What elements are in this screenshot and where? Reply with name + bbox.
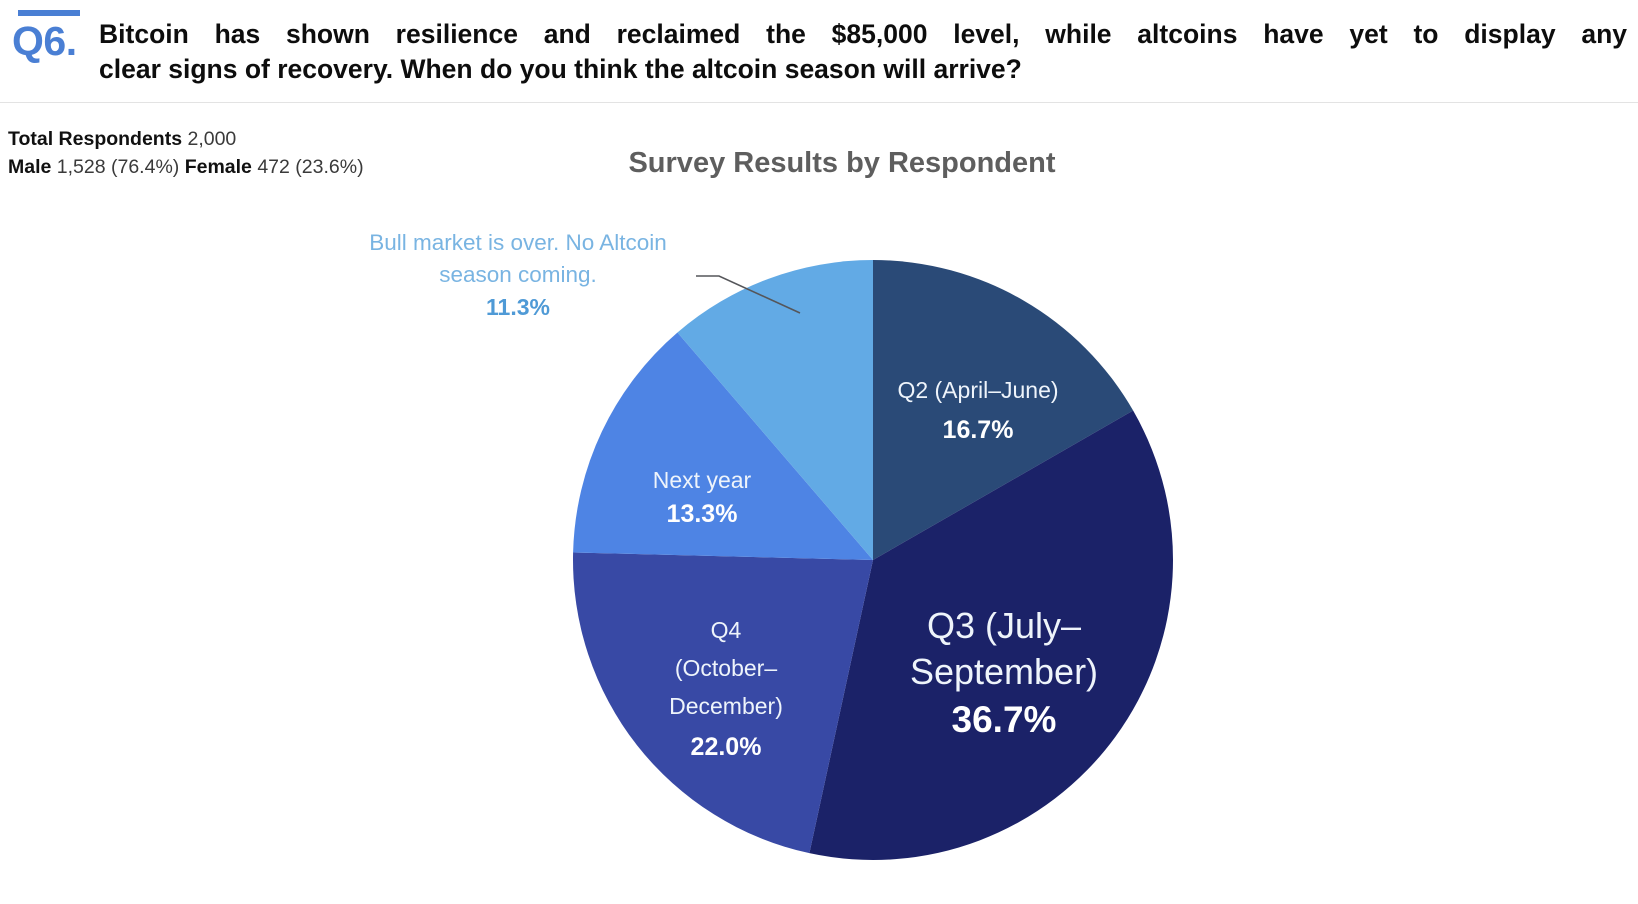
- slice-label-q4-line2: (October–: [675, 655, 777, 681]
- slice-label-q3-line2: September): [910, 651, 1098, 692]
- pie-chart-container: Survey Results by Respondent Q2 (April–J…: [0, 0, 1638, 904]
- slice-pct-q4: 22.0%: [691, 733, 762, 761]
- slice-pct-q3: 36.7%: [952, 699, 1057, 740]
- slice-pct-q2: 16.7%: [943, 416, 1014, 444]
- slice-label-q4-line1: Q4: [711, 617, 742, 643]
- slice-pct-next-year: 13.3%: [667, 500, 738, 528]
- slice-label-bull-market: Bull market is over. No Altcoin season c…: [369, 230, 667, 320]
- pie-slices: [573, 260, 1173, 860]
- slice-label-q3-line1: Q3 (July–: [927, 605, 1081, 646]
- slice-label-bull-market-line2: season coming.: [439, 262, 597, 287]
- pie-chart-svg: Q2 (April–June) 16.7% Q3 (July– Septembe…: [0, 0, 1638, 904]
- slice-label-q4-line3: December): [669, 693, 783, 719]
- slice-label-next-year-text: Next year: [653, 467, 752, 493]
- slice-label-q2-text: Q2 (April–June): [897, 377, 1058, 403]
- slice-label-bull-market-line1: Bull market is over. No Altcoin: [369, 230, 667, 255]
- slice-pct-bull-market: 11.3%: [486, 294, 550, 320]
